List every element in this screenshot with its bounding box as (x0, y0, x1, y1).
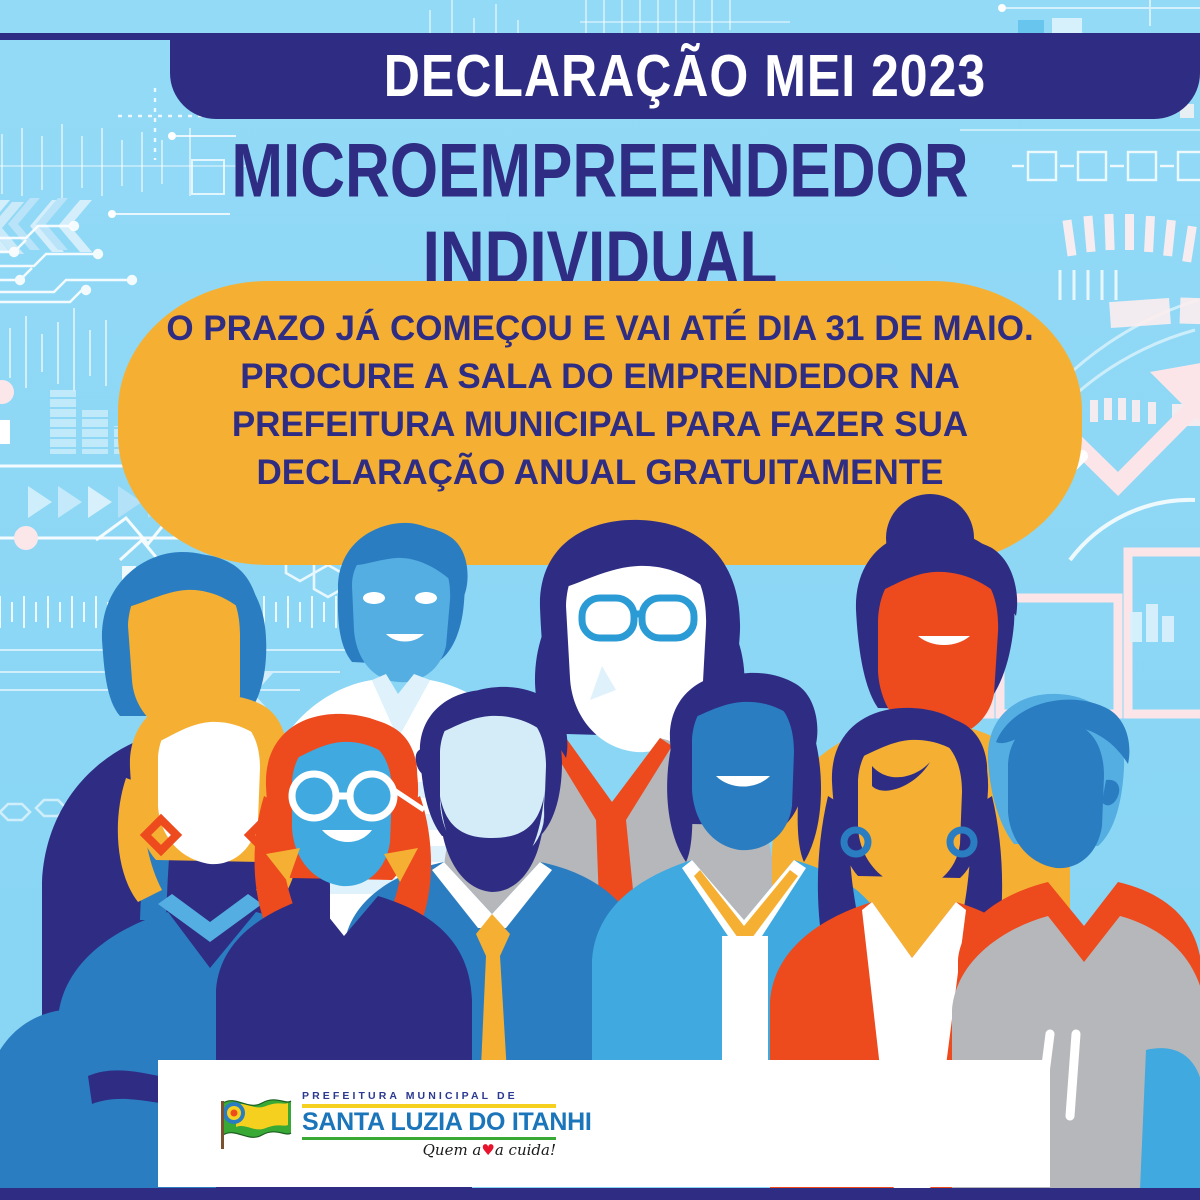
prefeitura-eyebrow: PREFEITURA MUNICIPAL DE (302, 1090, 592, 1102)
slogan-after: a cuida! (495, 1141, 556, 1159)
edge-shoulder-left (0, 1009, 86, 1190)
prefeitura-slogan: Quem a♥a cuida! (302, 1141, 556, 1159)
callout-text: O PRAZO JÁ COMEÇOU E VAI ATÉ DIA 31 DE M… (118, 305, 1082, 497)
prefeitura-yellow-rule (302, 1104, 556, 1108)
callout-highlight: 31 DE MAIO (826, 309, 1024, 348)
footer-band: PREFEITURA MUNICIPAL DE SANTA LUZIA DO I… (158, 1060, 1050, 1187)
title-banner: DECLARAÇÃO MEI 2023 (170, 33, 1200, 119)
prefeitura-text: PREFEITURA MUNICIPAL DE SANTA LUZIA DO I… (302, 1090, 592, 1159)
prefeitura-name: SANTA LUZIA DO ITANHI (302, 1109, 592, 1136)
banner-title: DECLARAÇÃO MEI 2023 (384, 42, 986, 110)
heart-icon: ♥ (481, 1141, 494, 1159)
prefeitura-logo: PREFEITURA MUNICIPAL DE SANTA LUZIA DO I… (220, 1088, 568, 1160)
callout-text-before: O PRAZO JÁ COMEÇOU E VAI ATÉ DIA (166, 309, 825, 348)
page-title: MICROEMPREENDEDOR INDIVIDUAL (0, 128, 1200, 304)
poster-root: DECLARAÇÃO MEI 2023 MICROEMPREENDEDOR IN… (0, 0, 1200, 1200)
flag-icon (220, 1093, 294, 1155)
prefeitura-green-rule (302, 1137, 556, 1140)
slogan-before: Quem a (423, 1141, 482, 1159)
bottom-divider (0, 1188, 1200, 1200)
subtitle-line-1: MICROEMPREENDEDOR (0, 128, 1200, 216)
